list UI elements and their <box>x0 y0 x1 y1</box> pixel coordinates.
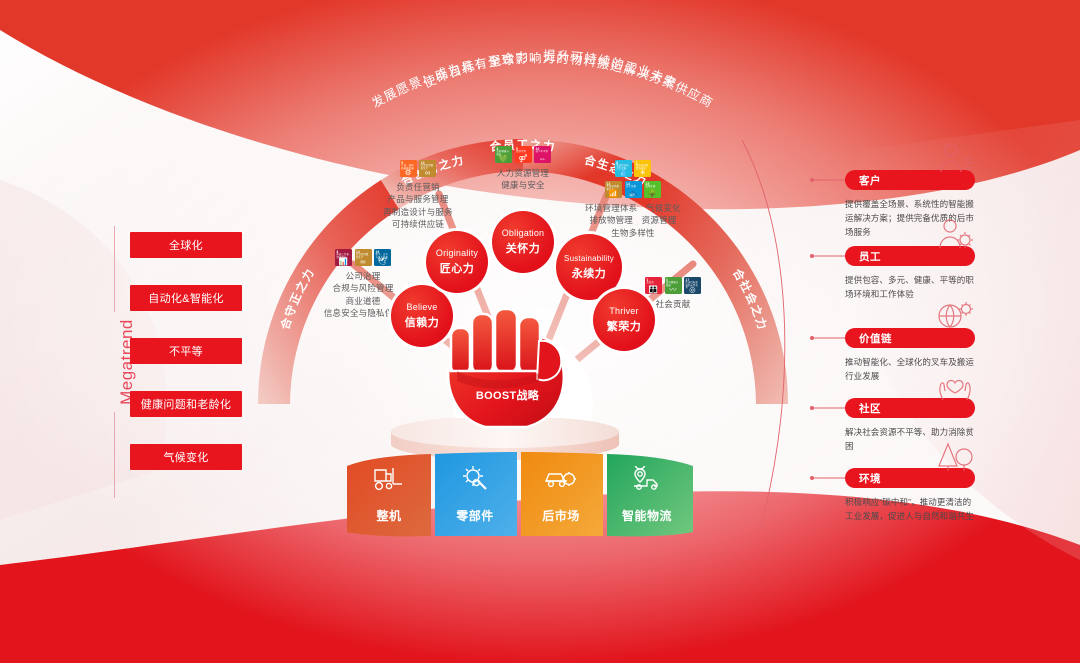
stakeholder-body: 提供包容、多元、健康、平等的职场环境和工作体验 <box>845 273 977 301</box>
stakeholder-card-employee: 员工 提供包容、多元、健康、平等的职场环境和工作体验 <box>845 246 977 301</box>
stakeholder-body: 积极响应“碳中和”，推动更清洁的工业发展，促进人与自然和谐共生 <box>845 495 977 523</box>
customer-icon <box>935 142 975 179</box>
stakeholder-card-environment: 环境 积极响应“碳中和”，推动更清洁的工业发展，促进人与自然和谐共生 <box>845 468 977 523</box>
globe-gear-icon <box>935 300 975 337</box>
employee-gear-icon <box>935 218 975 255</box>
tree-icon <box>935 440 975 477</box>
hands-heart-icon <box>935 370 975 407</box>
infographic-canvas: 使命目标：聚合力，提升可持续的工业未来 发展愿景：成为具有全球影响力的物料搬运解… <box>0 0 1080 663</box>
